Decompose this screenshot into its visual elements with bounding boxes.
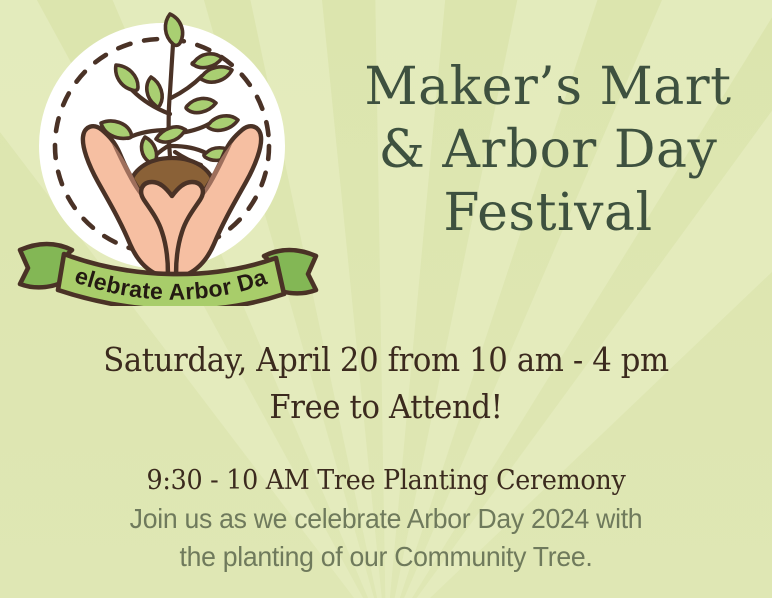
arbor-day-badge: Celebrate Arbor Day!	[8, 6, 328, 306]
title-line-3: Festival	[330, 182, 766, 245]
arbor-day-festival-poster: Celebrate Arbor Day! Maker’s Mart & Arbo…	[0, 0, 772, 598]
leaf-icon	[165, 14, 182, 45]
badge-illustration: Celebrate Arbor Day!	[8, 6, 328, 306]
ceremony-heading: 9:30 - 10 AM Tree Planting Ceremony	[23, 462, 749, 500]
page-title: Maker’s Mart & Arbor Day Festival	[330, 56, 766, 245]
event-admission: Free to Attend!	[27, 383, 745, 430]
ceremony-details: 9:30 - 10 AM Tree Planting Ceremony Join…	[0, 462, 772, 576]
event-date-time: Saturday, April 20 from 10 am - 4 pm	[27, 336, 745, 383]
title-line-2: & Arbor Day	[330, 119, 766, 182]
ceremony-body-line-1: Join us as we celebrate Arbor Day 2024 w…	[19, 500, 752, 538]
event-details: Saturday, April 20 from 10 am - 4 pm Fre…	[0, 336, 772, 430]
ceremony-body-line-2: the planting of our Community Tree.	[19, 538, 752, 576]
title-line-1: Maker’s Mart	[330, 56, 766, 119]
